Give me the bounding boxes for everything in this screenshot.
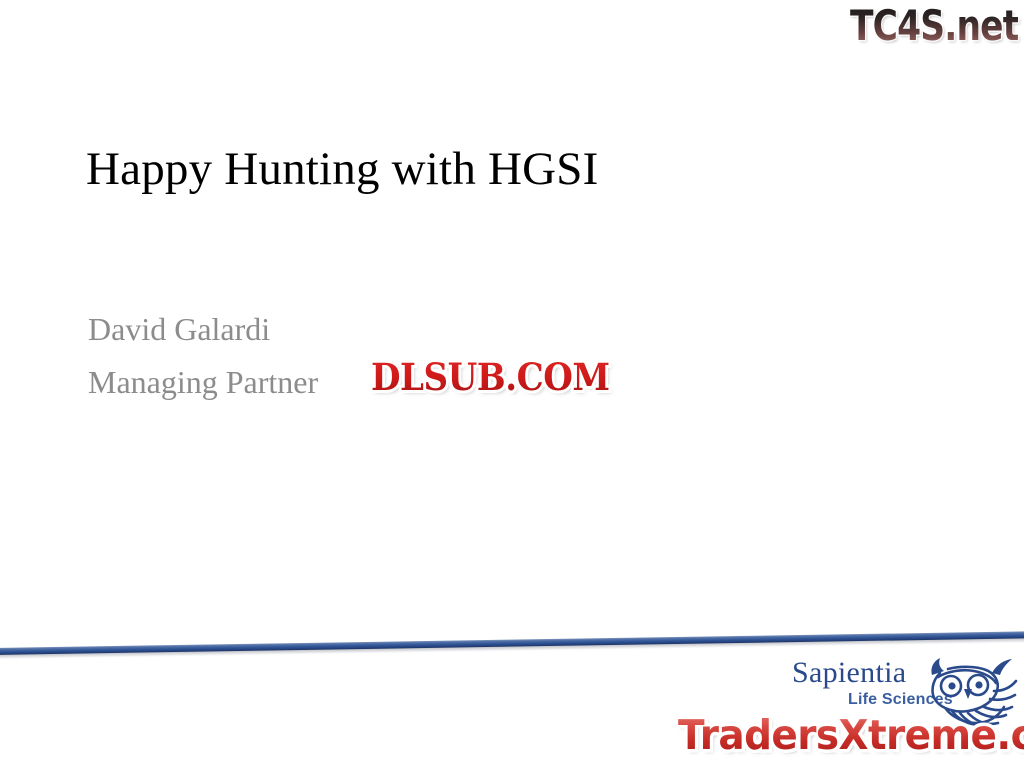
subtitle-line-presenter-name: David Galardi: [88, 303, 788, 356]
presentation-slide: Happy Hunting with HGSI David Galardi Ma…: [0, 0, 1024, 768]
watermark-dlsub-text: DLSUB.COM: [371, 355, 610, 399]
watermark-dlsub: DLSUB.COM DLSUB.COM: [371, 357, 610, 397]
watermark-tc4s: TC4S.net TC4S.net: [850, 2, 1018, 50]
watermark-tradersxtreme-text: TradersXtreme.com: [678, 711, 1024, 759]
slide-title: Happy Hunting with HGSI: [86, 144, 906, 196]
watermark-tradersxtreme: TradersXtreme.com TradersXtreme.com: [678, 710, 1024, 760]
watermark-tc4s-text: TC4S.net: [850, 1, 1018, 50]
logo-wordmark: Sapientia: [792, 657, 906, 689]
divider-rule: [0, 631, 1024, 657]
